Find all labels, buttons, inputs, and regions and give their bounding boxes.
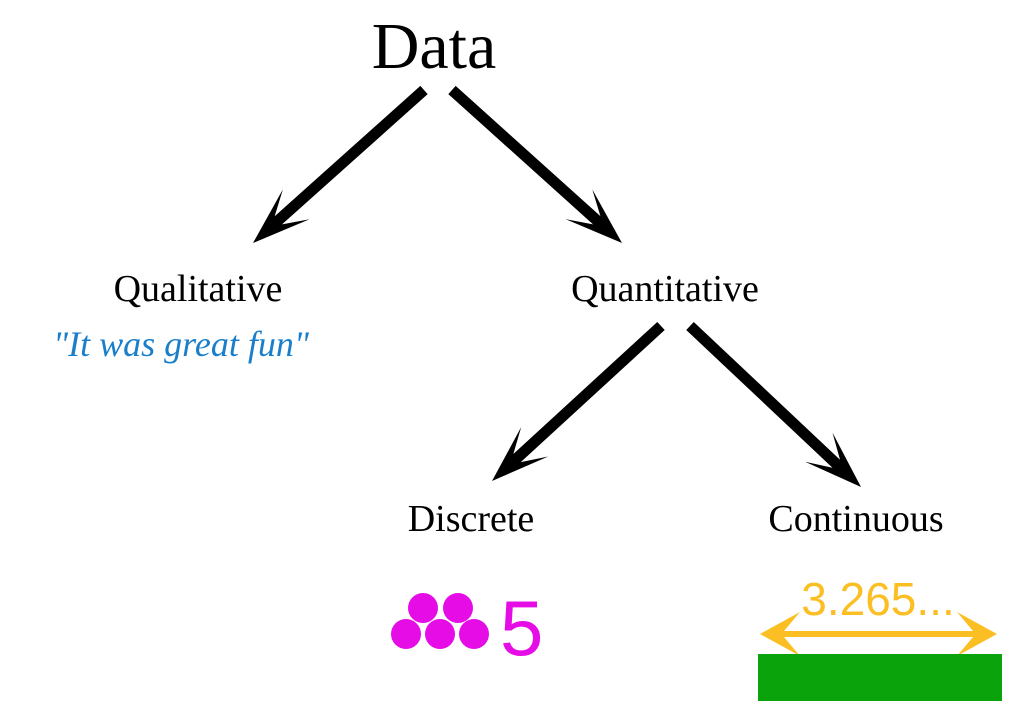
discrete-dot-1 <box>408 593 438 623</box>
diagram-canvas: Data Qualitative Quantitative "It was gr… <box>0 0 1011 713</box>
continuous-measure-bar <box>758 654 1002 701</box>
discrete-dot-4 <box>425 619 455 649</box>
node-label-data: Data <box>372 10 497 83</box>
discrete-dot-3 <box>391 619 421 649</box>
node-label-qualitative: Qualitative <box>114 268 283 310</box>
discrete-count-label: 5 <box>500 584 543 672</box>
node-label-discrete: Discrete <box>408 498 535 540</box>
continuous-value-label: 3.265... <box>801 573 954 625</box>
node-label-quantitative: Quantitative <box>571 268 759 310</box>
data-types-diagram: Data Qualitative Quantitative "It was gr… <box>0 0 1011 713</box>
discrete-dot-2 <box>443 593 473 623</box>
discrete-dot-5 <box>459 619 489 649</box>
qualitative-example-quote: "It was great fun" <box>53 324 310 364</box>
node-label-continuous: Continuous <box>768 498 943 540</box>
